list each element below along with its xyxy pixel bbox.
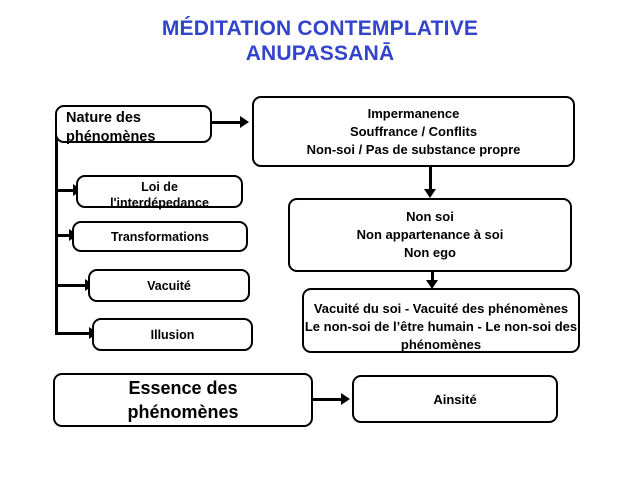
arrowhead-right-icon (341, 393, 350, 405)
node-essence-des-phenomenes[interactable]: Essence des phénomènes (53, 373, 313, 427)
node-impermanence[interactable]: Impermanence Souffrance / Conflits Non-s… (252, 96, 575, 167)
node-label: Transformations (74, 229, 246, 245)
arrowhead-right-icon (240, 116, 249, 128)
connector-impermanence-to-non-soi (429, 167, 432, 191)
node-label: Loi de l'interdépedance (78, 179, 241, 211)
connector-nature-to-illusion (55, 332, 93, 335)
node-illusion[interactable]: Illusion (92, 318, 253, 351)
node-label: Ainsité (354, 391, 556, 408)
node-label: Essence des phénomènes (55, 376, 311, 424)
node-label: Nature des phénomènes (57, 109, 210, 147)
node-nature-des-phenomenes[interactable]: Nature des phénomènes (55, 105, 212, 143)
page-title: MÉDITATION CONTEMPLATIVE ANUPASSANĀ (0, 16, 640, 66)
node-non-soi[interactable]: Non soi Non appartenance à soi Non ego (288, 198, 572, 272)
node-label: Illusion (94, 327, 251, 343)
node-loi-de-l-interdependance[interactable]: Loi de l'interdépedance (76, 175, 243, 208)
connector-nature-to-vacuite (55, 284, 89, 287)
node-label: Non soi Non appartenance à soi Non ego (290, 208, 570, 262)
node-vacuite[interactable]: Vacuité (88, 269, 250, 302)
node-label: Impermanence Souffrance / Conflits Non-s… (254, 105, 573, 159)
node-label: Vacuité du soi - Vacuité des phénomènes … (304, 300, 578, 354)
node-vacuite-du-soi[interactable]: Vacuité du soi - Vacuité des phénomènes … (302, 288, 580, 353)
diagram-canvas: MÉDITATION CONTEMPLATIVE ANUPASSANĀ Natu… (0, 0, 640, 480)
node-transformations[interactable]: Transformations (72, 221, 248, 252)
node-ainsite[interactable]: Ainsité (352, 375, 558, 423)
title-line-1: MÉDITATION CONTEMPLATIVE (0, 16, 640, 41)
title-line-2: ANUPASSANĀ (0, 41, 640, 66)
arrowhead-down-icon (424, 189, 436, 198)
connector-nature-spine (55, 122, 58, 335)
node-label: Vacuité (90, 278, 248, 294)
